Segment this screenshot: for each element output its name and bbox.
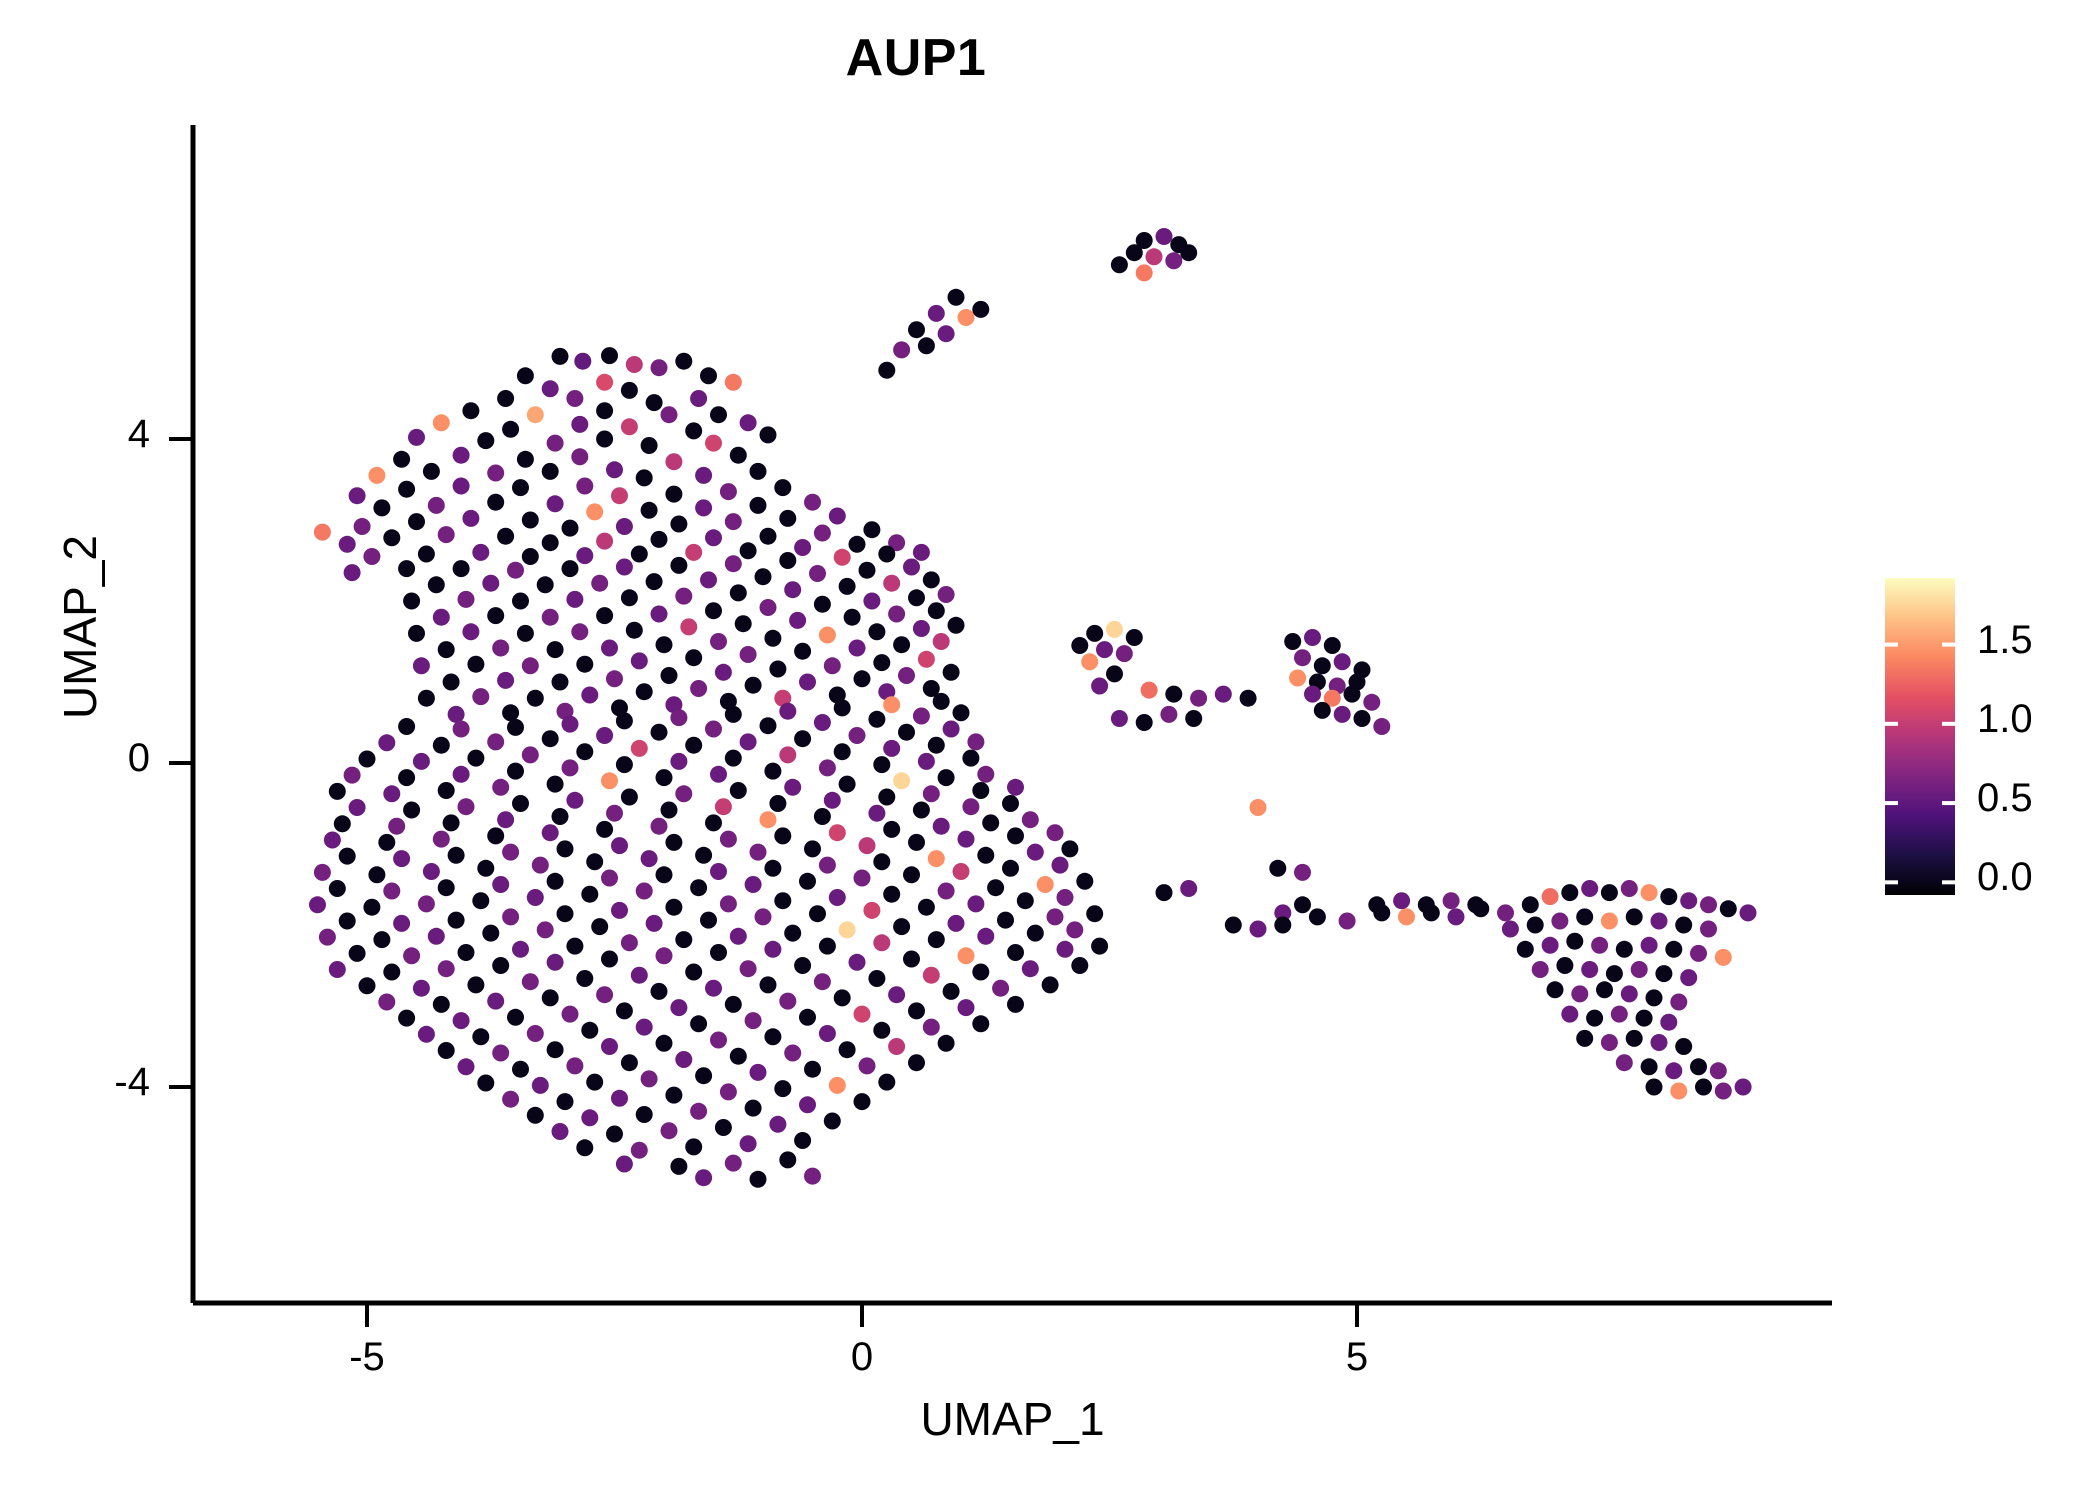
scatter-point [695, 847, 712, 864]
scatter-point [1665, 941, 1682, 958]
scatter-point [1007, 827, 1024, 844]
scatter-point [1126, 244, 1143, 261]
scatter-point [418, 690, 435, 707]
scatter-point [829, 889, 846, 906]
x-tick-label: -5 [307, 1335, 427, 1380]
scatter-point [453, 1012, 470, 1029]
scatter-point [1616, 1054, 1633, 1071]
scatter-point [591, 575, 608, 592]
scatter-point [517, 367, 534, 384]
scatter-point [1284, 633, 1301, 650]
scatter-point [948, 289, 965, 306]
scatter-point [661, 1122, 678, 1139]
scatter-point [1061, 840, 1078, 857]
scatter-point [854, 1006, 871, 1023]
scatter-point [631, 546, 648, 563]
scatter-point [562, 560, 579, 577]
scatter-point [562, 1006, 579, 1023]
scatter-point [814, 973, 831, 990]
scatter-point [472, 688, 489, 705]
scatter-point [1334, 653, 1351, 670]
scatter-point [1363, 694, 1380, 711]
scatter-point [1606, 965, 1623, 982]
scatter-point [1591, 937, 1608, 954]
scatter-point [685, 1138, 702, 1155]
scatter-point [596, 402, 613, 419]
scatter-point [1180, 880, 1197, 897]
scatter-point [1368, 896, 1385, 913]
scatter-point [1215, 686, 1232, 703]
scatter-point [967, 895, 984, 912]
scatter-point [745, 1100, 762, 1117]
scatter-point [715, 1119, 732, 1136]
scatter-point [1715, 1083, 1732, 1100]
scatter-point [433, 996, 450, 1013]
scatter-point [566, 792, 583, 809]
scatter-point [730, 447, 747, 464]
scatter-point [477, 1075, 494, 1092]
scatter-point [1393, 892, 1410, 909]
scatter-point [938, 769, 955, 786]
scatter-point [314, 524, 331, 541]
scatter-point [888, 1038, 905, 1055]
scatter-point [1646, 989, 1663, 1006]
scatter-point [675, 588, 692, 605]
scatter-point [512, 1061, 529, 1078]
scatter-point [868, 805, 885, 822]
scatter-point [863, 521, 880, 538]
scatter-point [1274, 917, 1291, 934]
scatter-point [799, 674, 816, 691]
scatter-point [1616, 941, 1633, 958]
scatter-point [651, 983, 668, 1000]
scatter-point [1611, 1006, 1628, 1023]
scatter-point [462, 402, 479, 419]
scatter-point [720, 895, 737, 912]
scatter-point [1037, 876, 1054, 893]
scatter-point [1398, 908, 1415, 925]
scatter-point [730, 928, 747, 945]
scatter-point [378, 834, 395, 851]
scatter-point [329, 961, 346, 978]
scatter-point [472, 544, 489, 561]
scatter-point [527, 406, 544, 423]
scatter-point [849, 727, 866, 744]
scatter-point [512, 593, 529, 610]
scatter-point [1566, 933, 1583, 950]
scatter-point [715, 798, 732, 815]
scatter-point [695, 1169, 712, 1186]
scatter-point [616, 712, 633, 729]
scatter-point [467, 656, 484, 673]
scatter-point [1621, 880, 1638, 897]
scatter-point [903, 951, 920, 968]
scatter-point [977, 847, 994, 864]
scatter-point [769, 1116, 786, 1133]
scatter-point [656, 866, 673, 883]
scatter-point [958, 999, 975, 1016]
scatter-point [859, 1057, 876, 1074]
scatter-point [507, 562, 524, 579]
scatter-point [933, 693, 950, 710]
scatter-point [492, 1045, 509, 1062]
scatter-point [1571, 985, 1588, 1002]
scatter-point [1052, 857, 1069, 874]
scatter-point [913, 802, 930, 819]
scatter-point [1066, 921, 1083, 938]
scatter-point [631, 967, 648, 984]
scatter-point [542, 609, 559, 626]
scatter-point [547, 495, 564, 512]
scatter-point [730, 782, 747, 799]
scatter-point [814, 714, 831, 731]
colorbar-tick-label: 1.5 [1977, 618, 2033, 663]
scatter-point [581, 1022, 598, 1039]
scatter-point [467, 976, 484, 993]
scatter-point [1626, 1030, 1643, 1047]
scatter-point [1641, 884, 1658, 901]
scatter-point [834, 549, 851, 566]
scatter-point [1467, 896, 1484, 913]
scatter-point [750, 844, 767, 861]
scatter-point [576, 478, 593, 495]
scatter-point [428, 928, 445, 945]
scatter-point [314, 864, 331, 881]
scatter-point [725, 750, 742, 767]
scatter-point [408, 625, 425, 642]
scatter-point [443, 814, 460, 831]
scatter-point [680, 618, 697, 635]
scatter-point [512, 795, 529, 812]
scatter-point [938, 586, 955, 603]
scatter-point [938, 883, 955, 900]
scatter-point [1670, 994, 1687, 1011]
scatter-point [661, 406, 678, 423]
scatter-point [1651, 913, 1668, 930]
scatter-point [908, 589, 925, 606]
scatter-point [819, 1025, 836, 1042]
scatter-point [888, 606, 905, 623]
scatter-point [779, 552, 796, 569]
scatter-point [393, 850, 410, 867]
scatter-point [557, 905, 574, 922]
scatter-point [1497, 904, 1514, 921]
scatter-point [552, 348, 569, 365]
scatter-point [1086, 625, 1103, 642]
scatter-point [1542, 937, 1559, 954]
scatter-point [1071, 637, 1088, 654]
scatter-point [1047, 908, 1064, 925]
scatter-point [601, 772, 618, 789]
scatter-point [626, 356, 643, 373]
scatter-point [1304, 629, 1321, 646]
scatter-point [705, 814, 722, 831]
scatter-point [1314, 702, 1331, 719]
scatter-point [997, 912, 1014, 929]
scatter-point [601, 870, 618, 887]
scatter-point [883, 821, 900, 838]
scatter-point [1081, 653, 1098, 670]
y-tick-label: -4 [0, 1060, 150, 1105]
scatter-point [1309, 908, 1326, 925]
scatter-point [760, 426, 777, 443]
scatter-point [1700, 921, 1717, 938]
scatter-point [1740, 904, 1757, 921]
scatter-point [522, 746, 539, 763]
scatter-point [710, 1032, 727, 1049]
scatter-point [750, 497, 767, 514]
scatter-point [507, 1009, 524, 1026]
scatter-point [621, 382, 638, 399]
scatter-point [576, 547, 593, 564]
y-tick-label: 0 [0, 736, 150, 781]
scatter-point [418, 546, 435, 563]
scatter-point [1017, 892, 1034, 909]
scatter-point [849, 640, 866, 657]
scatter-point [621, 934, 638, 951]
scatter-point [1136, 264, 1153, 281]
scatter-point [641, 502, 658, 519]
scatter-point [898, 724, 915, 741]
scatter-point [562, 716, 579, 733]
scatter-point [418, 1026, 435, 1043]
scatter-point [557, 840, 574, 857]
scatter-point [462, 510, 479, 527]
scatter-point [542, 380, 559, 397]
scatter-point [730, 584, 747, 601]
scatter-point [908, 1054, 925, 1071]
scatter-point [1250, 921, 1267, 938]
scatter-point [794, 730, 811, 747]
scatter-point [542, 463, 559, 480]
scatter-point [641, 850, 658, 867]
scatter-point [760, 976, 777, 993]
scatter-point [1641, 1058, 1658, 1075]
scatter-point [1586, 1010, 1603, 1027]
scatter-point [542, 534, 559, 551]
scatter-point [883, 696, 900, 713]
scatter-point [359, 751, 376, 768]
scatter-point [354, 518, 371, 535]
scatter-point [368, 467, 385, 484]
scatter-point [636, 1019, 653, 1036]
scatter-point [943, 983, 960, 1000]
scatter-point [1111, 256, 1128, 273]
scatter-point [685, 649, 702, 666]
scatter-point [735, 615, 752, 632]
scatter-point [581, 886, 598, 903]
scatter-point [497, 811, 514, 828]
scatter-point [977, 928, 994, 945]
scatter-point [537, 576, 554, 593]
scatter-point [933, 633, 950, 650]
scatter-point [576, 1139, 593, 1156]
scatter-point [928, 602, 945, 619]
scatter-point [730, 1048, 747, 1065]
scatter-point [873, 1022, 890, 1039]
scatter-point [1576, 908, 1593, 925]
scatter-point [552, 1123, 569, 1140]
scatter-point [962, 798, 979, 815]
scatter-point [453, 447, 470, 464]
scatter-point [977, 766, 994, 783]
scatter-point [745, 677, 762, 694]
scatter-point [566, 938, 583, 955]
scatter-point [581, 1109, 598, 1126]
scatter-point [542, 989, 559, 1006]
scatter-point [1057, 889, 1074, 906]
scatter-point [809, 905, 826, 922]
scatter-point [413, 980, 430, 997]
scatter-point [720, 831, 737, 848]
scatter-point [873, 756, 890, 773]
scatter-point [1655, 965, 1672, 982]
scatter-point [651, 606, 668, 623]
scatter-point [378, 734, 395, 751]
scatter-point [804, 494, 821, 511]
scatter-point [799, 873, 816, 890]
scatter-point [423, 863, 440, 880]
scatter-point [651, 531, 668, 548]
scatter-point [794, 1132, 811, 1149]
scatter-point [774, 1080, 791, 1097]
scatter-point [646, 915, 663, 932]
scatter-point [878, 789, 895, 806]
scatter-point [1027, 925, 1044, 942]
scatter-point [606, 461, 623, 478]
scatter-point [547, 954, 564, 971]
scatter-point [492, 779, 509, 796]
scatter-point [755, 568, 772, 585]
scatter-point [368, 866, 385, 883]
scatter-point [1542, 888, 1559, 905]
scatter-point [750, 463, 767, 480]
scatter-point [502, 908, 519, 925]
scatter-point [868, 711, 885, 728]
scatter-point [849, 954, 866, 971]
scatter-point [576, 743, 593, 760]
scatter-point [398, 718, 415, 735]
scatter-point [611, 487, 628, 504]
scatter-point [933, 818, 950, 835]
scatter-point [601, 347, 618, 364]
scatter-point [522, 548, 539, 565]
scatter-point [953, 704, 970, 721]
scatter-point [606, 1126, 623, 1143]
scatter-point [1710, 1062, 1727, 1079]
scatter-point [527, 690, 544, 707]
scatter-point [665, 453, 682, 470]
scatter-point [398, 769, 415, 786]
scatter-point [571, 623, 588, 640]
scatter-point [502, 704, 519, 721]
scatter-point [1294, 864, 1311, 881]
scatter-point [438, 641, 455, 658]
scatter-point [972, 964, 989, 981]
scatter-point [665, 486, 682, 503]
scatter-point [527, 1025, 544, 1042]
scatter-point [363, 899, 380, 916]
scatter-point [928, 305, 945, 322]
scatter-point [349, 799, 366, 816]
scatter-point [784, 1045, 801, 1062]
scatter-point [1106, 621, 1123, 638]
scatter-point [1532, 961, 1549, 978]
scatter-point [383, 785, 400, 802]
scatter-point [1641, 937, 1658, 954]
scatter-point [596, 374, 613, 391]
scatter-point [779, 746, 796, 763]
scatter-point [923, 967, 940, 984]
scatter-point [616, 559, 633, 576]
scatter-point [1091, 678, 1108, 695]
y-axis-title-wrapper: UMAP_2 [53, 277, 107, 977]
scatter-point [1344, 686, 1361, 703]
scatter-point [517, 451, 534, 468]
scatter-point [863, 593, 880, 610]
scatter-point [566, 591, 583, 608]
scatter-point [1551, 913, 1568, 930]
scatter-point [433, 737, 450, 754]
scatter-point [1289, 670, 1306, 687]
scatter-point [1007, 779, 1024, 796]
scatter-point [1601, 884, 1618, 901]
scatter-point [487, 607, 504, 624]
scatter-point [611, 902, 628, 919]
scatter-point [1631, 961, 1648, 978]
scatter-point [819, 857, 836, 874]
scatter-point [438, 782, 455, 799]
scatter-point [1190, 690, 1207, 707]
scatter-point [487, 465, 504, 482]
scatter-point [532, 857, 549, 874]
scatter-point [1675, 1038, 1692, 1055]
scatter-point [492, 876, 509, 893]
scatter-point [725, 996, 742, 1013]
scatter-point [888, 986, 905, 1003]
scatter-point [1027, 844, 1044, 861]
scatter-point [433, 414, 450, 431]
scatter-point [740, 414, 757, 431]
scatter-point [834, 699, 851, 716]
scatter-point [458, 1058, 475, 1075]
scatter-point [661, 667, 678, 684]
scatter-point [502, 1091, 519, 1108]
scatter-point [690, 680, 707, 697]
scatter-point [1448, 908, 1465, 925]
scatter-point [393, 915, 410, 932]
scatter-point [398, 481, 415, 498]
scatter-point [670, 999, 687, 1016]
scatter-point [492, 957, 509, 974]
scatter-point [913, 708, 930, 725]
scatter-point [596, 986, 613, 1003]
scatter-point [532, 1077, 549, 1094]
scatter-point [1621, 985, 1638, 1002]
scatter-point [675, 785, 692, 802]
scatter-point [418, 895, 435, 912]
scatter-point [1180, 244, 1197, 261]
scatter-point [1294, 896, 1311, 913]
scatter-point [477, 432, 494, 449]
scatter-point [764, 1028, 781, 1045]
scatter-point [651, 359, 668, 376]
scatter-point [958, 309, 975, 326]
scatter-point [547, 873, 564, 890]
scatter-point [705, 980, 722, 997]
scatter-point [908, 834, 925, 851]
x-tick-label: 5 [1297, 1335, 1417, 1380]
